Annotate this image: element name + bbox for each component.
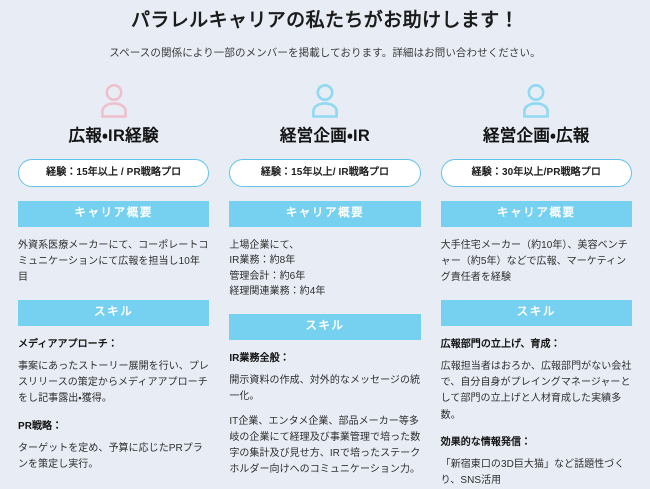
page-root: パラレルキャリアの私たちがお助けします！ スペースの関係により一部のメンバーを掲… [0,0,650,481]
page-header: パラレルキャリアの私たちがお助けします！ スペースの関係により一部のメンバーを掲… [0,0,650,60]
member-card-2: 経営企画・IR 経験：15年以上/ IR戦略プロ キャリア概要 上場企業にて、 … [219,82,430,478]
skill-body: 広報担当者はおろか、広報部門がない会社で、自分自身がプレイングマネージャーとして… [441,359,632,424]
person-icon [308,82,342,118]
skill-label: IR業務全般： [229,352,420,366]
skill-label: PR戦略： [18,420,209,434]
skill-label: 広報部門の立上げ、育成： [441,338,632,352]
skill-body: ターゲットを定め、予算に応じたPRプランを策定し実行。 [18,441,209,473]
person-icon [519,82,553,118]
skill-label: メディアアプローチ： [18,338,209,352]
page-subtitle: スペースの関係により一部のメンバーを掲載しております。詳細はお問い合わせください… [0,47,650,61]
skill-bar: スキル [229,314,420,340]
skill-bar: スキル [441,300,632,326]
skill-body: 事案にあったストーリー展開を行い、プレスリリースの策定からメディアアプローチをし… [18,359,209,408]
skill-bar: スキル [18,300,209,326]
experience-badge: 経験：15年以上/ IR戦略プロ [229,159,420,187]
career-summary-bar: キャリア概要 [441,201,632,227]
experience-badge: 経験：15年以上 / PR戦略プロ [18,159,209,187]
career-summary-text: 上場企業にて、 IR業務：約8年 管理会計：約6年 経理関連業務：約4年 [229,238,420,300]
career-summary-bar: キャリア概要 [18,201,209,227]
person-icon [97,82,131,118]
page-title: パラレルキャリアの私たちがお助けします！ [0,9,650,34]
career-summary-text: 外資系医療メーカーにて、コーポレートコミュニケーションにて広報を担当し10年目 [18,238,209,287]
member-title: 経営企画・IR [229,126,420,147]
member-title: 経営企画・広報 [441,126,632,147]
experience-badge: 経験：30年以上/PR戦略プロ [441,159,632,187]
career-summary-bar: キャリア概要 [229,201,420,227]
skill-label: 効果的な情報発信： [441,436,632,450]
skill-body: IT企業、エンタメ企業、部品メーカー等多岐の企業にて経理及び事業管理で培った数字… [229,414,420,479]
skill-body: 「新宿東口の3D巨大猫」など話題性づくり、SNS活用 [441,457,632,489]
skill-body: 開示資料の作成、対外的なメッセージの統一化。 [229,373,420,405]
member-card-3: 経営企画・広報 経験：30年以上/PR戦略プロ キャリア概要 大手住宅メーカー（… [431,82,642,489]
member-columns: 広報・IR経験 経験：15年以上 / PR戦略プロ キャリア概要 外資系医療メー… [0,82,650,489]
member-card-1: 広報・IR経験 経験：15年以上 / PR戦略プロ キャリア概要 外資系医療メー… [8,82,219,473]
member-title: 広報・IR経験 [18,126,209,147]
career-summary-text: 大手住宅メーカー（約10年）、美容ベンチャー（約5年）などで広報、マーケティング… [441,238,632,287]
